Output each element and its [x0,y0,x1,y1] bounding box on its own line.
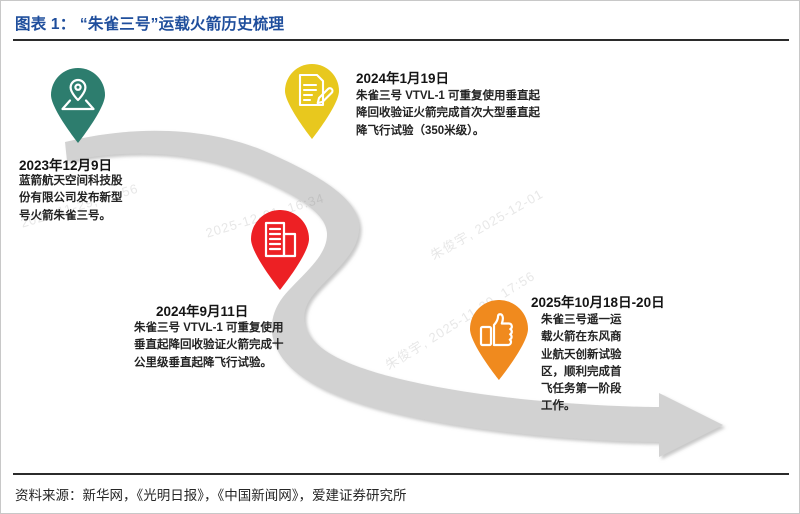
buildings-icon [249,210,311,290]
timeline-marker-2 [283,63,341,144]
title-divider [13,39,789,41]
thumbs-up-icon [468,300,530,380]
event-text-4: 朱雀三号遥一运载火箭在东风商业航天创新试验区，顺利完成首飞任务第一阶段工作。 [541,312,629,416]
location-pin-icon [49,67,107,143]
figure-container: 图表 1： “朱雀三号”运载火箭历史梳理 2025-11-29, 17:56 2… [0,0,800,514]
timeline-marker-1 [49,67,107,148]
event-text-1: 蓝箭航天空间科技股份有限公司发布新型号火箭朱雀三号。 [19,173,123,225]
event-date-1: 2023年12月9日 [19,154,112,174]
watermark-text: 朱俊宇, 2025-12-01 [426,183,546,263]
event-date-3: 2024年9月11日 [156,300,248,320]
timeline-marker-3 [249,210,311,295]
event-date-4: 2025年10月18日-20日 [531,291,665,311]
document-edit-icon [283,63,341,139]
event-text-3: 朱雀三号 VTVL-1 可重复使用垂直起降回收验证火箭完成十公里级垂直起降飞行试… [134,320,286,372]
event-date-2: 2024年1月19日 [356,67,449,87]
footer-divider [13,473,789,475]
timeline-marker-4 [468,300,530,385]
source-note: 资料来源：新华网，《光明日报》，《中国新闻网》，爱建证券研究所 [15,484,407,504]
page-title: 图表 1： “朱雀三号”运载火箭历史梳理 [15,12,284,34]
event-text-2: 朱雀三号 VTVL-1 可重复使用垂直起降回收验证火箭完成首次大型垂直起降飞行试… [356,88,544,140]
